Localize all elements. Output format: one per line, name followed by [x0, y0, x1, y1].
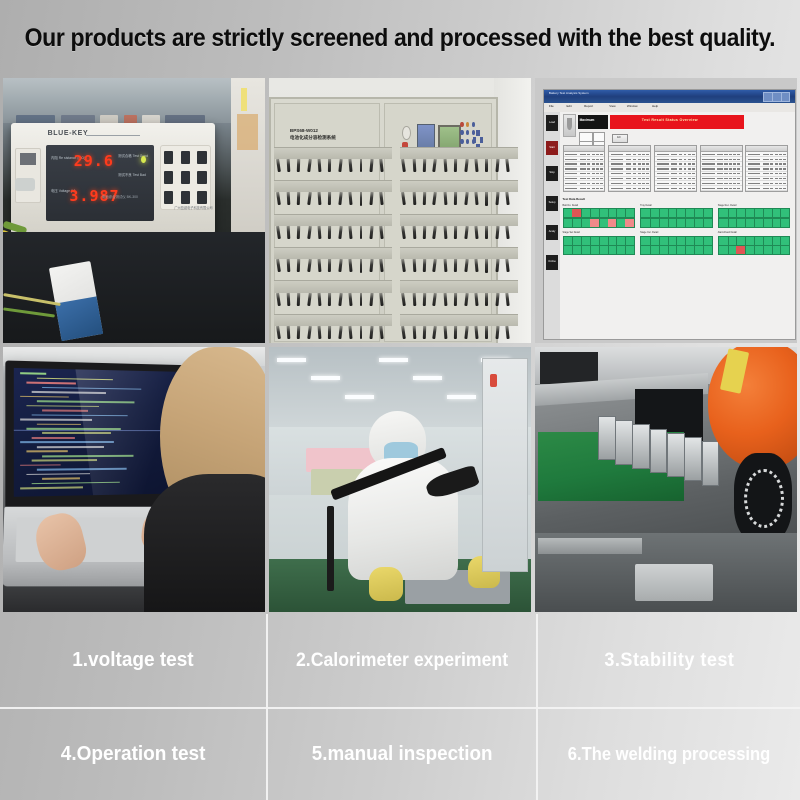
cell-clamp — [412, 192, 415, 205]
table-cell — [763, 154, 769, 155]
side-button-analy[interactable]: Analy — [546, 225, 558, 240]
status-band-caption: Tray Detail — [640, 204, 651, 207]
table-cell — [763, 188, 769, 189]
table-cell — [600, 173, 603, 174]
table-cell — [633, 159, 636, 160]
table-cell — [770, 168, 773, 169]
table-cell — [770, 178, 773, 179]
table-cell — [592, 159, 595, 160]
keypad-key[interactable] — [197, 151, 206, 163]
table-cell — [657, 173, 669, 174]
table-cell — [684, 173, 687, 174]
table-cell — [775, 163, 778, 164]
table-cell — [642, 163, 645, 164]
cell-clamp — [454, 159, 457, 172]
table-cell — [779, 173, 782, 174]
table-cell — [729, 188, 732, 189]
cell-clamp — [360, 293, 363, 306]
keypad-key[interactable] — [197, 191, 206, 203]
photo-stability-test: Battery Test Analysis System File Edit R… — [535, 78, 797, 343]
side-button-start[interactable]: Start — [546, 141, 558, 155]
table-cell — [671, 188, 677, 189]
keypad-key[interactable] — [164, 171, 173, 183]
code-line — [21, 487, 84, 490]
panel-button[interactable] — [460, 139, 463, 144]
code-line — [43, 478, 80, 480]
window-titlebar: Battery Test Analysis System — [544, 90, 796, 103]
table-cell — [737, 154, 740, 155]
table-cell — [684, 178, 687, 179]
table-cell — [600, 188, 603, 189]
table-cell — [657, 154, 669, 155]
table-cell — [657, 163, 669, 164]
table-cell — [763, 163, 769, 164]
table-cell — [733, 168, 736, 169]
table-cell — [642, 183, 645, 184]
data-table[interactable] — [745, 145, 788, 193]
table-cell — [633, 168, 636, 169]
table-cell — [763, 183, 769, 184]
table-cell — [596, 178, 599, 179]
person-shoulder — [144, 474, 265, 612]
panel-indicator — [472, 122, 475, 127]
table-cell — [779, 154, 782, 155]
menu-item-edit[interactable]: Edit — [566, 104, 571, 108]
photo-manual-inspection — [269, 347, 531, 612]
cell-clamp — [360, 259, 363, 272]
table-cell — [679, 163, 682, 164]
table-cell — [779, 159, 782, 160]
page-title-bar: Our products are strictly screened and p… — [0, 0, 800, 76]
filter-input-2[interactable] — [593, 132, 604, 141]
data-table[interactable] — [654, 145, 697, 193]
table-cell — [671, 159, 677, 160]
table-cell — [763, 173, 769, 174]
wall-object — [241, 88, 246, 111]
table-cell — [717, 183, 723, 184]
company-logo — [563, 114, 577, 136]
side-button-load[interactable]: Load — [546, 115, 558, 131]
table-cell — [633, 178, 636, 179]
table-cell — [626, 154, 632, 155]
table-cell — [748, 159, 760, 160]
cell-clamp-row — [400, 314, 518, 326]
table-cell — [587, 178, 590, 179]
table-cell — [692, 154, 695, 155]
status-band-caption: Stage Set Detail — [563, 231, 580, 234]
table-cell — [596, 173, 599, 174]
keypad-key[interactable] — [197, 171, 206, 183]
table-cell — [729, 173, 732, 174]
machine-enclosure — [482, 358, 529, 572]
table-cell — [733, 163, 736, 164]
table-cell — [671, 154, 677, 155]
table-cell — [779, 168, 782, 169]
table-cell — [587, 183, 590, 184]
table-cell — [638, 163, 641, 164]
table-cell — [724, 168, 727, 169]
status-band-block[interactable]: Alarm/Fault Detail — [718, 236, 789, 254]
table-cell — [565, 159, 577, 160]
table-cell — [729, 183, 732, 184]
cell-clamp — [360, 226, 363, 239]
table-cell — [592, 188, 595, 189]
cell-clamp — [485, 192, 488, 205]
table-cell — [733, 154, 736, 155]
table-cell — [770, 183, 773, 184]
brand-underline — [86, 135, 139, 136]
status-band-block[interactable]: Stage Cur. Detail — [640, 236, 711, 254]
data-table[interactable] — [608, 145, 651, 193]
side-button-setup[interactable]: Setup — [546, 196, 558, 211]
table-cell — [702, 154, 714, 155]
table-cell — [717, 173, 723, 174]
table-cell — [702, 188, 714, 189]
table-cell — [646, 178, 649, 179]
table-cell — [600, 159, 603, 160]
table-cell — [580, 168, 586, 169]
table-cell — [638, 173, 641, 174]
code-line — [21, 395, 69, 397]
cell-clamp — [360, 326, 363, 339]
table-cell — [565, 168, 577, 169]
data-table[interactable] — [700, 145, 743, 193]
manufacturer-label: 广州蓝键电子科技有限公司 — [174, 205, 212, 210]
caption-cell-2: 2.Calorimeter experiment — [268, 614, 536, 707]
table-cell — [702, 183, 714, 184]
table-cell — [684, 159, 687, 160]
status-band-caption: Stage Rec. Detail — [718, 204, 737, 207]
caption-operation-test: 4.Operation test — [61, 743, 206, 766]
table-cell — [646, 159, 649, 160]
keypad-key[interactable] — [181, 191, 190, 203]
rotary-knob[interactable] — [402, 126, 411, 140]
table-cell — [592, 168, 595, 169]
status-cell — [625, 219, 635, 227]
cell-clamp — [485, 326, 488, 339]
table-cell — [626, 183, 632, 184]
table-cell — [724, 178, 727, 179]
table-cell — [775, 168, 778, 169]
panel-indicator — [466, 122, 469, 127]
cell-clamp — [454, 192, 457, 205]
status-cell — [703, 209, 713, 217]
caption-calorimeter-experiment: 2.Calorimeter experiment — [296, 650, 508, 672]
data-table[interactable] — [563, 145, 606, 193]
table-cell — [688, 173, 691, 174]
table-cell — [684, 168, 687, 169]
table-cell — [671, 168, 677, 169]
status-cell — [703, 246, 713, 254]
table-cell — [702, 159, 714, 160]
table-cell — [671, 173, 677, 174]
welding-head — [615, 420, 633, 464]
robot-arm-joint — [708, 347, 797, 469]
status-band-block[interactable]: Stage Rec. Detail — [718, 208, 789, 226]
table-cell — [600, 183, 603, 184]
table-row[interactable] — [609, 186, 650, 192]
product-quality-banner: Our products are strictly screened and p… — [0, 0, 800, 800]
ceiling-light — [413, 376, 442, 380]
device-display: 内阻 Re sistance (mΩ) 电压 Voltage (V) 29.6 … — [46, 145, 154, 221]
welding-head — [667, 433, 685, 477]
table-cell — [633, 188, 636, 189]
table-cell — [638, 159, 641, 160]
table-cell — [633, 183, 636, 184]
menu-item-report[interactable]: Report — [584, 104, 593, 108]
welding-head — [702, 441, 720, 485]
table-cell — [688, 178, 691, 179]
display-note: 电池综合测试仪 BK-300 — [102, 195, 150, 200]
keypad-key[interactable] — [181, 171, 190, 183]
table-cell — [692, 183, 695, 184]
table-row[interactable] — [655, 186, 696, 192]
table-cell — [783, 168, 786, 169]
table-cell — [692, 173, 695, 174]
glove-left — [369, 567, 403, 601]
bench-surface — [3, 232, 265, 343]
table-cell — [688, 188, 691, 189]
cell-clamp — [454, 293, 457, 306]
table-cell — [733, 178, 736, 179]
software-window: Battery Test Analysis System File Edit R… — [543, 89, 797, 340]
cell-clamp — [360, 192, 363, 205]
cell-clamp — [485, 259, 488, 272]
code-line — [21, 372, 46, 374]
table-cell — [587, 168, 590, 169]
data-table-group — [563, 145, 789, 193]
table-cell — [611, 173, 623, 174]
photo-calorimeter-experiment: BPS68-W012 电池化成分容检测系统 — [269, 78, 531, 343]
table-cell — [626, 159, 632, 160]
table-cell — [587, 163, 590, 164]
keypad-key[interactable] — [164, 151, 173, 163]
cell-clamp — [287, 192, 290, 205]
table-row[interactable] — [701, 186, 742, 192]
status-lamp-indicator — [141, 156, 146, 163]
cell-clamp — [485, 159, 488, 172]
table-cell — [638, 168, 641, 169]
menu-item-file[interactable]: File — [549, 104, 554, 108]
code-line — [26, 473, 90, 475]
code-line — [21, 464, 61, 466]
background-wall — [231, 78, 265, 242]
table-cell — [688, 154, 691, 155]
status-banner: Test Result Status Overview — [610, 115, 744, 129]
table-cell — [671, 163, 677, 164]
cell-clamp — [412, 159, 415, 172]
table-cell — [702, 173, 714, 174]
table-cell — [729, 154, 732, 155]
close-button[interactable] — [781, 92, 791, 102]
table-cell — [702, 168, 714, 169]
table-cell — [611, 159, 623, 160]
keypad[interactable] — [160, 145, 211, 209]
tower-light — [490, 374, 497, 387]
dpad-left-icon[interactable] — [473, 137, 476, 143]
status-band — [718, 218, 791, 228]
table-cell — [565, 188, 577, 189]
table-cell — [684, 188, 687, 189]
table-cell — [626, 178, 632, 179]
table-cell — [684, 154, 687, 155]
table-cell — [763, 159, 769, 160]
cabinet-model-label: BPS68-W012 电池化成分容检测系统 — [290, 128, 336, 142]
filter-input-1[interactable] — [579, 132, 593, 141]
table-row[interactable] — [564, 186, 605, 192]
panel-button[interactable] — [466, 139, 469, 144]
status-band — [640, 218, 713, 228]
cell-clamp — [412, 226, 415, 239]
table-cell — [729, 163, 732, 164]
photo-voltage-test: BLUE-KEY 内阻 Re sistance (mΩ) 电压 Voltage … — [3, 78, 265, 343]
table-cell — [692, 178, 695, 179]
table-cell — [565, 154, 577, 155]
photo-welding-processing — [535, 347, 797, 612]
panel-button[interactable] — [466, 130, 469, 135]
table-cell — [783, 183, 786, 184]
cell-clamp-row — [400, 280, 518, 292]
code-line — [37, 423, 81, 425]
wall-object — [237, 114, 258, 150]
table-cell — [688, 159, 691, 160]
table-cell — [684, 163, 687, 164]
menu-item-help[interactable]: Help — [652, 104, 658, 108]
table-cell — [646, 168, 649, 169]
ceiling-light — [311, 376, 340, 380]
table-cell — [702, 163, 714, 164]
status-cell — [780, 237, 790, 245]
welding-head — [650, 429, 668, 473]
keypad-key[interactable] — [164, 191, 173, 203]
menu-item-window[interactable]: Window — [627, 104, 638, 108]
table-cell — [642, 168, 645, 169]
table-cell — [748, 188, 760, 189]
table-cell — [626, 188, 632, 189]
table-cell — [611, 154, 623, 155]
table-cell — [724, 188, 727, 189]
table-cell — [724, 183, 727, 184]
table-cell — [729, 168, 732, 169]
table-cell — [580, 183, 586, 184]
keypad-key[interactable] — [181, 151, 190, 163]
dpad-right-icon[interactable] — [480, 137, 483, 143]
table-cell — [679, 159, 682, 160]
table-cell — [638, 154, 641, 155]
table-cell — [688, 168, 691, 169]
welding-head — [598, 416, 616, 460]
side-button-stop[interactable]: Stop — [546, 166, 558, 181]
table-cell — [580, 163, 586, 164]
cell-clamp — [287, 326, 290, 339]
battery-tester-device: BLUE-KEY 内阻 Re sistance (mΩ) 电压 Voltage … — [11, 123, 215, 234]
menu-item-view[interactable]: View — [609, 104, 615, 108]
table-cell — [611, 188, 623, 189]
brand-tag: Maximum — [578, 115, 609, 129]
table-cell — [657, 159, 669, 160]
page-title: Our products are strictly screened and p… — [25, 24, 776, 53]
cell-clamp-row — [274, 314, 392, 326]
device-brand-label: BLUE-KEY — [48, 130, 89, 137]
cell-clamp-row — [400, 247, 518, 259]
table-cell — [638, 183, 641, 184]
table-cell — [565, 163, 577, 164]
table-cell — [733, 159, 736, 160]
dpad-up-icon[interactable] — [476, 130, 479, 136]
status-band-block[interactable]: Batt.No. Detail — [563, 208, 634, 226]
status-band-caption: Alarm/Fault Detail — [718, 231, 737, 234]
table-row[interactable] — [746, 186, 787, 192]
table-cell — [596, 168, 599, 169]
cell-clamp-row — [274, 280, 392, 292]
table-cell — [580, 173, 586, 174]
cell-clamp-row — [274, 147, 392, 159]
table-cell — [779, 163, 782, 164]
code-line — [26, 450, 67, 452]
table-cell — [679, 168, 682, 169]
status-band — [563, 218, 636, 228]
table-cell — [600, 163, 603, 164]
status-band-caption: Batt.No. Detail — [563, 204, 578, 207]
table-cell — [642, 178, 645, 179]
table-cell — [646, 183, 649, 184]
table-cell — [692, 159, 695, 160]
table-cell — [679, 183, 682, 184]
status-cell — [703, 237, 713, 245]
table-cell — [646, 163, 649, 164]
side-button-online[interactable]: Online — [546, 255, 558, 270]
panel-button[interactable] — [460, 130, 463, 135]
go-button[interactable]: GO — [612, 134, 628, 144]
table-cell — [600, 168, 603, 169]
table-cell — [633, 154, 636, 155]
status-band-block[interactable]: Tray Detail — [640, 208, 711, 226]
display-label-test-bad: 测试不良 Test Bad — [118, 173, 146, 178]
table-cell — [775, 154, 778, 155]
table-cell — [657, 183, 669, 184]
status-cell — [625, 237, 635, 245]
side-toolbar[interactable]: Load Start Stop Setup Analy Online — [544, 112, 561, 339]
status-cell — [780, 246, 790, 254]
table-cell — [611, 178, 623, 179]
table-cell — [596, 188, 599, 189]
table-cell — [770, 173, 773, 174]
table-cell — [729, 159, 732, 160]
section-title: Test Data Result — [563, 197, 585, 201]
table-cell — [737, 173, 740, 174]
table-cell — [587, 154, 590, 155]
cell-clamp-row — [274, 214, 392, 226]
table-cell — [596, 163, 599, 164]
conveyor-track — [538, 538, 643, 554]
table-cell — [642, 188, 645, 189]
table-cell — [724, 154, 727, 155]
table-cell — [688, 163, 691, 164]
status-cell — [780, 219, 790, 227]
status-band-block[interactable]: Stage Set Detail — [563, 236, 634, 254]
table-cell — [717, 178, 723, 179]
table-cell — [692, 168, 695, 169]
input-jack — [15, 148, 42, 203]
cable-connector — [15, 178, 35, 191]
status-banner-text: Test Result Status Overview — [642, 118, 698, 122]
table-cell — [580, 154, 586, 155]
table-cell — [671, 178, 677, 179]
table-cell — [580, 159, 586, 160]
table-cell — [748, 163, 760, 164]
table-cell — [702, 178, 714, 179]
table-cell — [763, 178, 769, 179]
